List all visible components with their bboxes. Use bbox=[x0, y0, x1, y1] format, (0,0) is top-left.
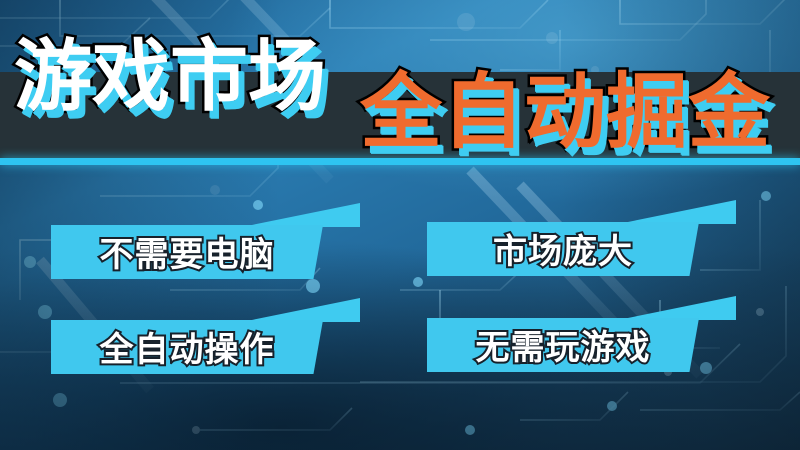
headline-underline bbox=[0, 158, 800, 165]
feature-label: 市场庞大 bbox=[493, 224, 633, 273]
swoosh-accent-right-1 bbox=[618, 200, 736, 224]
feature-badge-no-gaming-needed: 无需玩游戏 bbox=[427, 318, 699, 372]
feature-badge-no-computer: 不需要电脑 bbox=[51, 225, 323, 279]
feature-badge-large-market: 市场庞大 bbox=[427, 222, 699, 276]
swoosh-accent-left-1 bbox=[242, 203, 360, 227]
swoosh-accent-right-2 bbox=[618, 296, 736, 320]
poster-canvas: 游戏市场 全自动掘金 不需要电脑 全自动操作 市场庞大 无需玩游戏 bbox=[0, 0, 800, 450]
feature-badge-fully-automatic: 全自动操作 bbox=[51, 320, 323, 374]
feature-label: 全自动操作 bbox=[100, 322, 275, 371]
feature-label: 无需玩游戏 bbox=[476, 320, 651, 369]
swoosh-accent-left-2 bbox=[242, 298, 360, 322]
headline-band bbox=[0, 72, 800, 160]
feature-label: 不需要电脑 bbox=[100, 227, 275, 276]
